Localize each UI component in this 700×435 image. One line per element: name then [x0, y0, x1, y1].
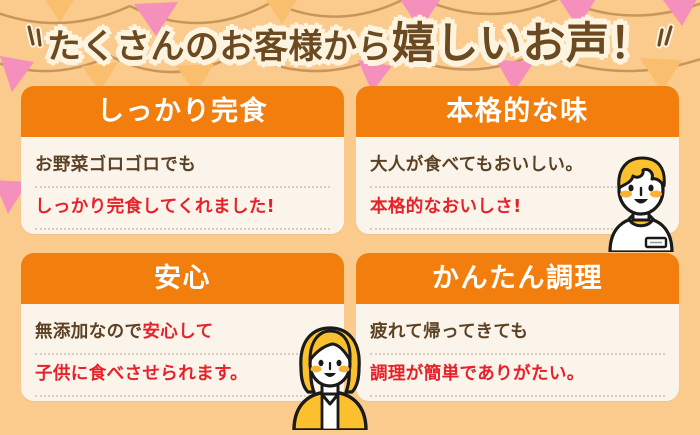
quote-segment: 調理が簡単でありがたい。 — [370, 366, 585, 384]
testimonial-card-grid: しっかり完食お野菜ゴロゴロでもしっかり完食してくれました!本格的な味大人が食べて… — [21, 86, 679, 406]
page-title-lead: たくさんのお客様から — [47, 19, 392, 68]
sparkle-tick-icon — [23, 14, 47, 58]
card-header: 本格的な味 — [356, 86, 679, 137]
card-heading: かんたん調理 — [432, 265, 603, 292]
page-title-emphasis: 嬉しいお声！ — [392, 9, 653, 71]
quote-segment: 子供に食べさせられます。 — [35, 366, 248, 384]
quote-segment: 本格的なおいしさ! — [370, 199, 522, 217]
page-title: たくさんのお客様から 嬉しいお声！ — [23, 9, 677, 71]
card-header: 安心 — [21, 253, 344, 304]
quote-line: 無添加なので安心して — [35, 313, 330, 355]
quote-line: 子供に食べさせられます。 — [35, 355, 330, 397]
quote-segment: お野菜ゴロゴロでも — [35, 157, 196, 175]
quote-segment: 安心して — [142, 324, 213, 342]
card-heading: 安心 — [154, 265, 211, 292]
header-banner: たくさんのお客様から 嬉しいお声！ — [0, 0, 700, 80]
card-header: しっかり完食 — [21, 86, 344, 137]
quote-segment: 疲れて帰ってきても — [370, 324, 528, 342]
quote-segment: してくれました! — [142, 199, 275, 217]
card-body: お野菜ゴロゴロでもしっかり完食してくれました! — [21, 137, 344, 234]
card-heading: 本格的な味 — [446, 98, 589, 125]
card-body: 無添加なので安心して子供に食べさせられます。 — [21, 304, 344, 401]
quote-segment: 大人が食べてもおいしい。 — [370, 157, 583, 175]
card-kantan-chouri: かんたん調理疲れて帰ってきても調理が簡単でありがたい。 — [356, 253, 679, 401]
quote-line: 調理が簡単でありがたい。 — [370, 355, 665, 397]
card-anshin: 安心無添加なので安心して子供に食べさせられます。 — [21, 253, 344, 401]
quote-line: 大人が食べてもおいしい。 — [370, 146, 665, 188]
quote-line: しっかり完食してくれました! — [35, 188, 330, 230]
quote-line: 疲れて帰ってきても — [370, 313, 665, 355]
card-header: かんたん調理 — [356, 253, 679, 304]
quote-line: 本格的なおいしさ! — [370, 188, 665, 230]
quote-segment: しっかり完食 — [35, 199, 142, 217]
quote-segment: 無添加なので — [35, 324, 142, 342]
card-body: 疲れて帰ってきても調理が簡単でありがたい。 — [356, 304, 679, 401]
card-heading: しっかり完食 — [97, 98, 268, 125]
card-honkakuteki-na-aji: 本格的な味大人が食べてもおいしい。本格的なおいしさ! — [356, 86, 679, 234]
sparkle-tick-icon — [653, 14, 677, 58]
card-shikkari-kanshoku: しっかり完食お野菜ゴロゴロでもしっかり完食してくれました! — [21, 86, 344, 234]
quote-line: お野菜ゴロゴロでも — [35, 146, 330, 188]
card-body: 大人が食べてもおいしい。本格的なおいしさ! — [356, 137, 679, 234]
